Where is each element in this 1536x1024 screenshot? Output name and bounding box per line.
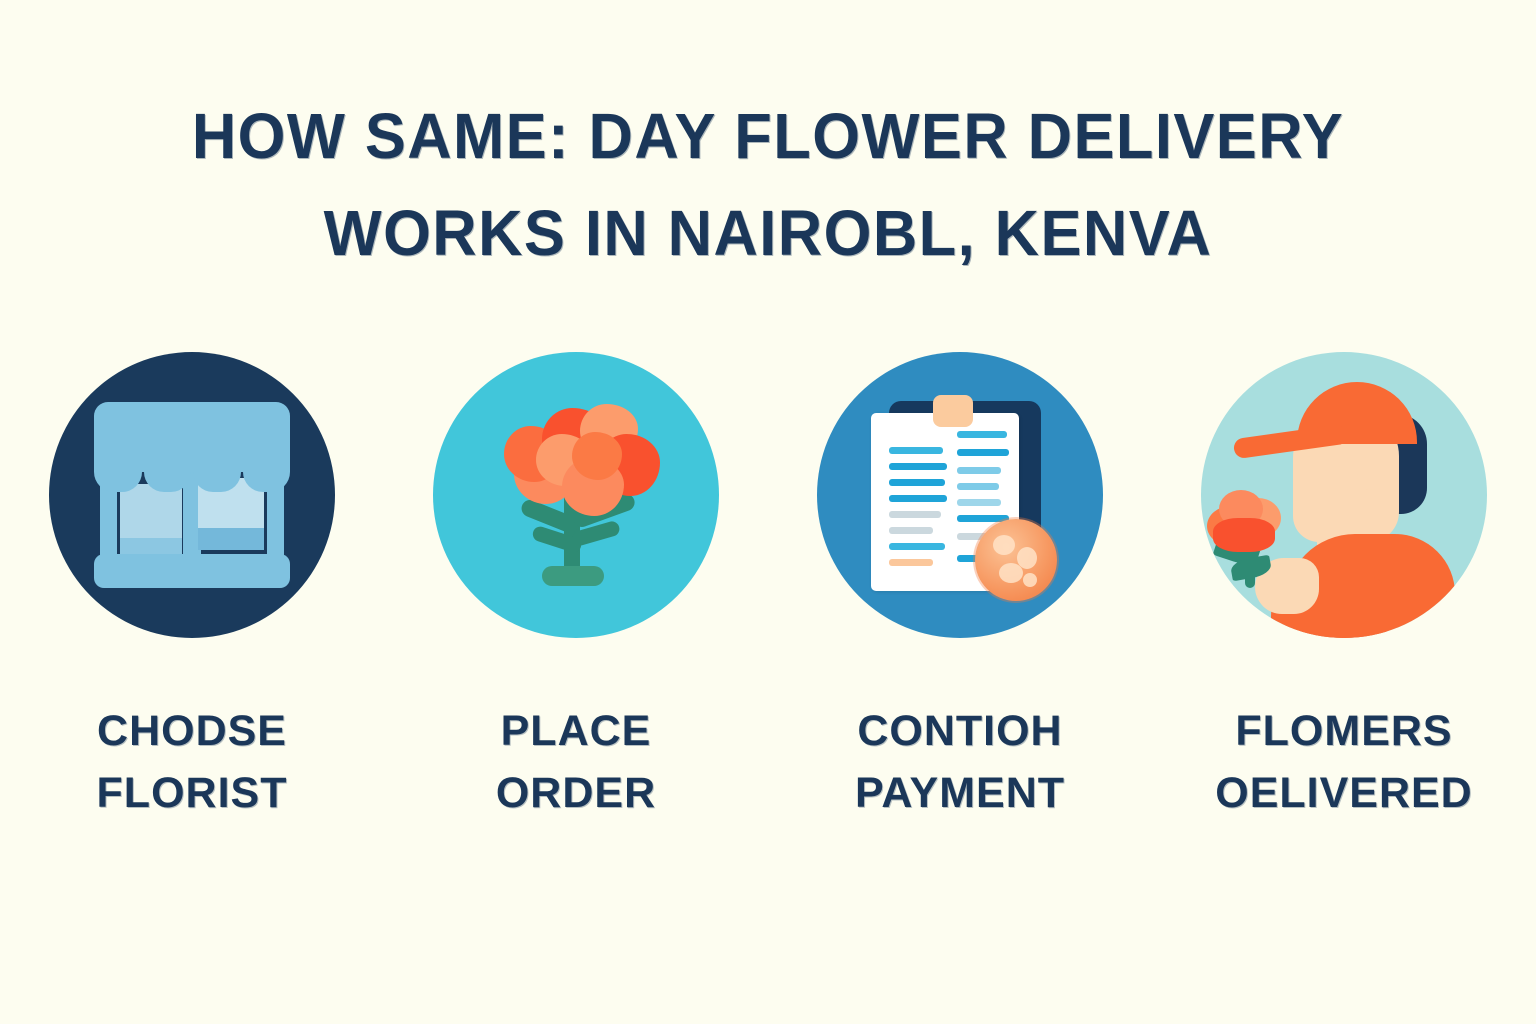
clipboard-clip <box>933 395 973 427</box>
title-line-2: WORKS IN NAIROBL, KENVA <box>31 185 1506 282</box>
bouquet-icon <box>476 400 676 590</box>
bouquet-bloom-8 <box>572 432 622 480</box>
step-4-label: FLOMERS OELIVERED <box>1215 700 1473 824</box>
step-4-icon-circle <box>1201 352 1487 638</box>
step-4-label-line-2: OELIVERED <box>1215 762 1473 824</box>
courier-ear <box>1357 456 1385 490</box>
storefront-base <box>94 554 290 588</box>
step-4-label-line-1: FLOMERS <box>1215 700 1473 762</box>
step-confirm-payment: CONTIOH PAYMENT <box>768 352 1152 824</box>
payment-coin-icon <box>975 519 1057 601</box>
step-1-label: CHODSE FLORIST <box>97 700 288 824</box>
step-1-label-line-2: FLORIST <box>97 762 288 824</box>
infographic-canvas: HOW SAME: DAY FLOWER DELIVERY WORKS IN N… <box>0 0 1536 1024</box>
storefront-window-left <box>120 484 182 564</box>
storefront-icon <box>94 402 290 588</box>
title-line-1: HOW SAME: DAY FLOWER DELIVERY <box>31 88 1506 185</box>
step-flowers-delivered: FLOMERS OELIVERED <box>1152 352 1536 824</box>
steps-row: CHODSE FLORIST <box>0 352 1536 824</box>
courier-flower-icon <box>1205 488 1301 588</box>
step-1-icon-circle <box>49 352 335 638</box>
step-3-icon-circle <box>817 352 1103 638</box>
step-2-icon-circle <box>433 352 719 638</box>
step-2-label-line-2: ORDER <box>496 762 656 824</box>
step-2-label-line-1: PLACE <box>496 700 656 762</box>
step-3-label-line-1: CONTIOH <box>855 700 1065 762</box>
step-3-label-line-2: PAYMENT <box>855 762 1065 824</box>
invoice-payment-icon <box>867 395 1053 595</box>
page-title: HOW SAME: DAY FLOWER DELIVERY WORKS IN N… <box>0 88 1536 282</box>
storefront-awning-scallops <box>94 460 290 492</box>
step-choose-florist: CHODSE FLORIST <box>0 352 384 824</box>
step-3-label: CONTIOH PAYMENT <box>855 700 1065 824</box>
step-1-label-line-1: CHODSE <box>97 700 288 762</box>
delivery-person-icon <box>1201 352 1487 638</box>
step-place-order: PLACE ORDER <box>384 352 768 824</box>
step-2-label: PLACE ORDER <box>496 700 656 824</box>
